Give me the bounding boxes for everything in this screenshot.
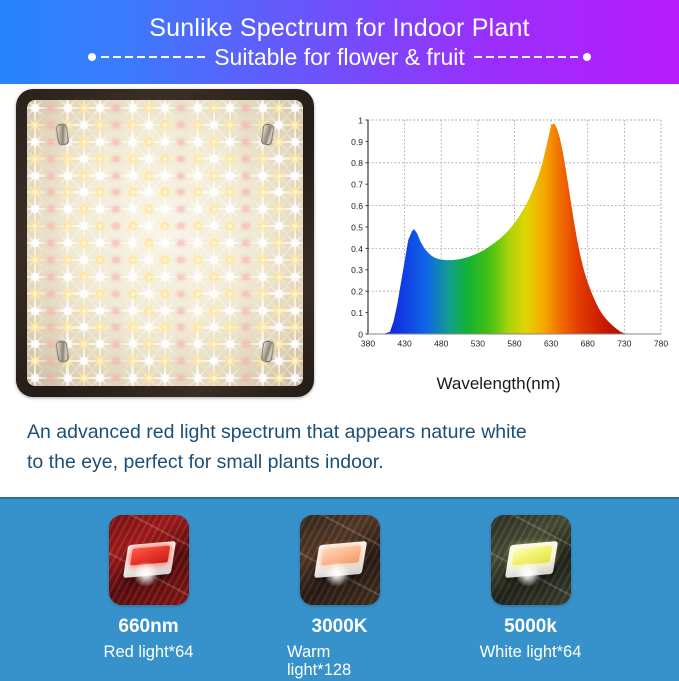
deco-dashes-left [101,56,205,58]
chart-x-axis-label: Wavelength(nm) [326,374,671,394]
led-chip-title: 660nm [118,617,178,638]
description-line-1: An advanced red light spectrum that appe… [27,421,527,443]
led-core [31,374,40,383]
led-core [96,374,105,383]
x-tick-label: 580 [507,339,521,349]
spectrum-chart: 00.10.20.30.40.50.60.70.80.9138043048053… [326,106,671,406]
y-tick-label: 0.9 [351,137,363,147]
main-content: 00.10.20.30.40.50.60.70.80.9138043048053… [0,84,679,497]
spectrum-chart-svg: 00.10.20.30.40.50.60.70.80.9138043048053… [326,106,671,368]
page-subtitle: Suitable for flower & fruit [214,45,465,69]
y-tick-label: 1 [358,115,363,125]
led-chip-title: 3000K [312,617,368,638]
led-chip-item-red: 660nm Red light*64 [96,515,201,679]
deco-dashes-right [474,56,578,58]
x-tick-label: 380 [361,339,375,349]
y-tick-label: 0.2 [351,287,363,297]
header-banner: Sunlike Spectrum for Indoor Plant Suitab… [0,0,679,84]
led-chip-title: 5000k [504,617,557,638]
led-chip-list: 660nm Red light*64 3000K Warm light*128 [0,515,679,679]
led-core [291,374,300,383]
y-tick-label: 0.6 [351,201,363,211]
warm-led-chip-photo [300,515,380,605]
deco-dot-right [583,53,591,61]
infographic-page: Sunlike Spectrum for Indoor Plant Suitab… [0,0,679,679]
y-tick-label: 0.1 [351,308,363,318]
led-chip-item-white: 5000k White light*64 [478,515,583,679]
y-tick-label: 0.8 [351,158,363,168]
led-panel-frame [16,89,314,397]
x-tick-label: 780 [654,339,668,349]
x-tick-label: 480 [434,339,448,349]
y-tick-label: 0.4 [351,244,363,254]
led-chip-subtitle: Red light*64 [104,643,194,661]
x-tick-label: 680 [581,339,595,349]
x-tick-label: 430 [398,339,412,349]
led-chip-subtitle: Warm light*128 [287,643,392,679]
dashes-dot-icon [474,53,591,61]
led-chip-subtitle: White light*64 [480,643,582,661]
y-tick-label: 0.3 [351,265,363,275]
subtitle-row: Suitable for flower & fruit [88,45,591,69]
led-core [226,374,235,383]
light-glint-icon [133,561,159,587]
description-line-2: to the eye, perfect for small plants ind… [27,447,652,477]
led-panel-surface [27,100,303,386]
y-tick-label: 0.5 [351,222,363,232]
light-glint-icon [324,561,350,587]
x-tick-label: 730 [617,339,631,349]
light-glint-icon [515,561,541,587]
product-photo [16,89,314,397]
led-core [161,374,170,383]
red-led-chip-photo [109,515,189,605]
led-specs-panel: 660nm Red light*64 3000K Warm light*128 [0,497,679,681]
led-chip-item-warm: 3000K Warm light*128 [287,515,392,679]
page-title: Sunlike Spectrum for Indoor Plant [149,15,529,41]
deco-dot-left [88,53,96,61]
x-tick-label: 630 [544,339,558,349]
description-text: An advanced red light spectrum that appe… [27,417,652,477]
white-led-chip-photo [491,515,571,605]
y-tick-label: 0.7 [351,180,363,190]
x-tick-label: 530 [471,339,485,349]
dot-dashes-icon [88,53,205,61]
